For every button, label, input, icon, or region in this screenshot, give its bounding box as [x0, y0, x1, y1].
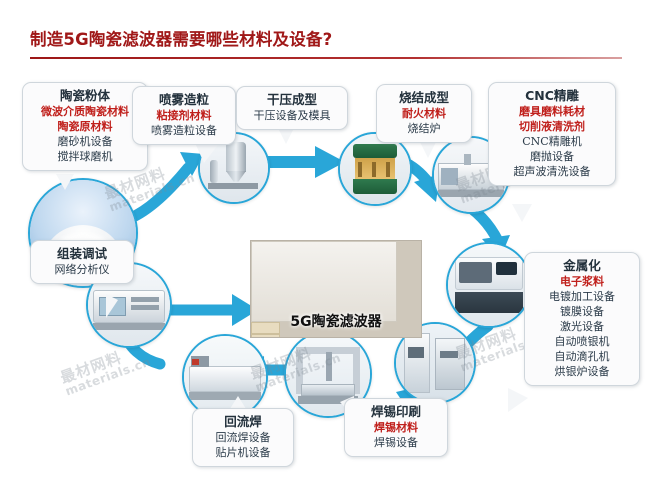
- stage-item-list: 磨具磨料耗材 切削液清洗剂 CNC精雕机 磨抛设备 超声波清洗设备: [497, 104, 607, 179]
- stage-item: CNC精雕机: [497, 134, 607, 149]
- stage-box-dry-pressing[interactable]: 干压成型 干压设备及模具: [236, 86, 348, 130]
- stage-item: 微波介质陶瓷材料: [31, 104, 139, 119]
- stage-title: CNC精雕: [497, 88, 607, 104]
- callout-tail: [56, 174, 74, 190]
- stage-item-list: 耐火材料 烧结炉: [385, 106, 463, 136]
- stage-item: 镀膜设备: [533, 304, 631, 319]
- stage-item: 网络分析仪: [39, 262, 125, 277]
- title-divider: [30, 57, 622, 59]
- stage-item: 激光设备: [533, 319, 631, 334]
- stage-item: 烧结炉: [385, 121, 463, 136]
- stage-item: 喷雾造粒设备: [141, 123, 227, 138]
- callout-tail: [420, 142, 436, 158]
- stage-item: 干压设备及模具: [245, 108, 339, 123]
- stage-box-assembly-testing[interactable]: 组装调试 网络分析仪: [30, 240, 134, 284]
- stage-item-list: 网络分析仪: [39, 262, 125, 277]
- stage-item: 自动滴孔机: [533, 349, 631, 364]
- stage-item-list: 焊锡材料 焊锡设备: [353, 420, 439, 450]
- callout-tail: [106, 294, 118, 318]
- stage-box-solder-printing[interactable]: 焊锡印刷 焊锡材料 焊锡设备: [344, 398, 448, 457]
- stage-item-list: 微波介质陶瓷材料 陶瓷原材料 磨砂机设备 搅拌球磨机: [31, 104, 139, 164]
- page-title: 制造5G陶瓷滤波器需要哪些材料及设备?: [30, 26, 332, 50]
- stage-item-list: 干压设备及模具: [245, 108, 339, 123]
- stage-title: 干压成型: [245, 92, 339, 108]
- stage-title: 陶瓷粉体: [31, 88, 139, 104]
- callout-tail: [512, 204, 532, 222]
- callout-tail: [196, 145, 218, 163]
- photo-dry-press: [338, 132, 412, 206]
- stage-item: 磨砂机设备: [31, 134, 139, 149]
- stage-item: 电子浆料: [533, 274, 631, 289]
- stage-item-list: 电子浆料 电镀加工设备 镀膜设备 激光设备 自动喷银机 自动滴孔机 烘银炉设备: [533, 274, 631, 379]
- stage-title: 金属化: [533, 258, 631, 274]
- callout-tail: [508, 388, 528, 412]
- stage-item: 切削液清洗剂: [497, 119, 607, 134]
- stage-item: 磨具磨料耗材: [497, 104, 607, 119]
- stage-title: 组装调试: [39, 246, 125, 262]
- stage-title: 回流焊: [201, 414, 285, 430]
- stage-box-sintering[interactable]: 烧结成型 耐火材料 烧结炉: [376, 84, 472, 143]
- stage-item-list: 粘接剂材料 喷雾造粒设备: [141, 108, 227, 138]
- stage-item: 超声波清洗设备: [497, 164, 607, 179]
- infographic-canvas: 制造5G陶瓷滤波器需要哪些材料及设备?: [0, 0, 650, 487]
- stage-item: 焊锡材料: [353, 420, 439, 435]
- stage-box-reflow-soldering[interactable]: 回流焊 回流焊设备 贴片机设备: [192, 408, 294, 467]
- stage-item-list: 回流焊设备 贴片机设备: [201, 430, 285, 460]
- stage-item: 焊锡设备: [353, 435, 439, 450]
- stage-item: 磨抛设备: [497, 149, 607, 164]
- center-product-caption: 5G陶瓷滤波器: [251, 311, 421, 331]
- stage-title: 喷雾造粒: [141, 92, 227, 108]
- photo-cnc-machine: [446, 242, 532, 328]
- stage-item: 耐火材料: [385, 106, 463, 121]
- stage-box-spray-granulation[interactable]: 喷雾造粒 粘接剂材料 喷雾造粒设备: [132, 86, 236, 145]
- stage-item: 搅拌球磨机: [31, 149, 139, 164]
- stage-item: 烘银炉设备: [533, 364, 631, 379]
- stage-box-metallization[interactable]: 金属化 电子浆料 电镀加工设备 镀膜设备 激光设备 自动喷银机 自动滴孔机 烘银…: [524, 252, 640, 386]
- stage-box-cnc-engraving[interactable]: CNC精雕 磨具磨料耗材 切削液清洗剂 CNC精雕机 磨抛设备 超声波清洗设备: [488, 82, 616, 186]
- callout-tail: [278, 128, 294, 144]
- stage-title: 烧结成型: [385, 90, 463, 106]
- stage-item: 陶瓷原材料: [31, 119, 139, 134]
- stage-item: 回流焊设备: [201, 430, 285, 445]
- center-product-photo: 5G陶瓷滤波器: [250, 240, 422, 338]
- stage-item: 电镀加工设备: [533, 289, 631, 304]
- stage-box-ceramic-powder[interactable]: 陶瓷粉体 微波介质陶瓷材料 陶瓷原材料 磨砂机设备 搅拌球磨机: [22, 82, 148, 171]
- stage-title: 焊锡印刷: [353, 404, 439, 420]
- stage-item: 贴片机设备: [201, 445, 285, 460]
- stage-item: 自动喷银机: [533, 334, 631, 349]
- stage-item: 粘接剂材料: [141, 108, 227, 123]
